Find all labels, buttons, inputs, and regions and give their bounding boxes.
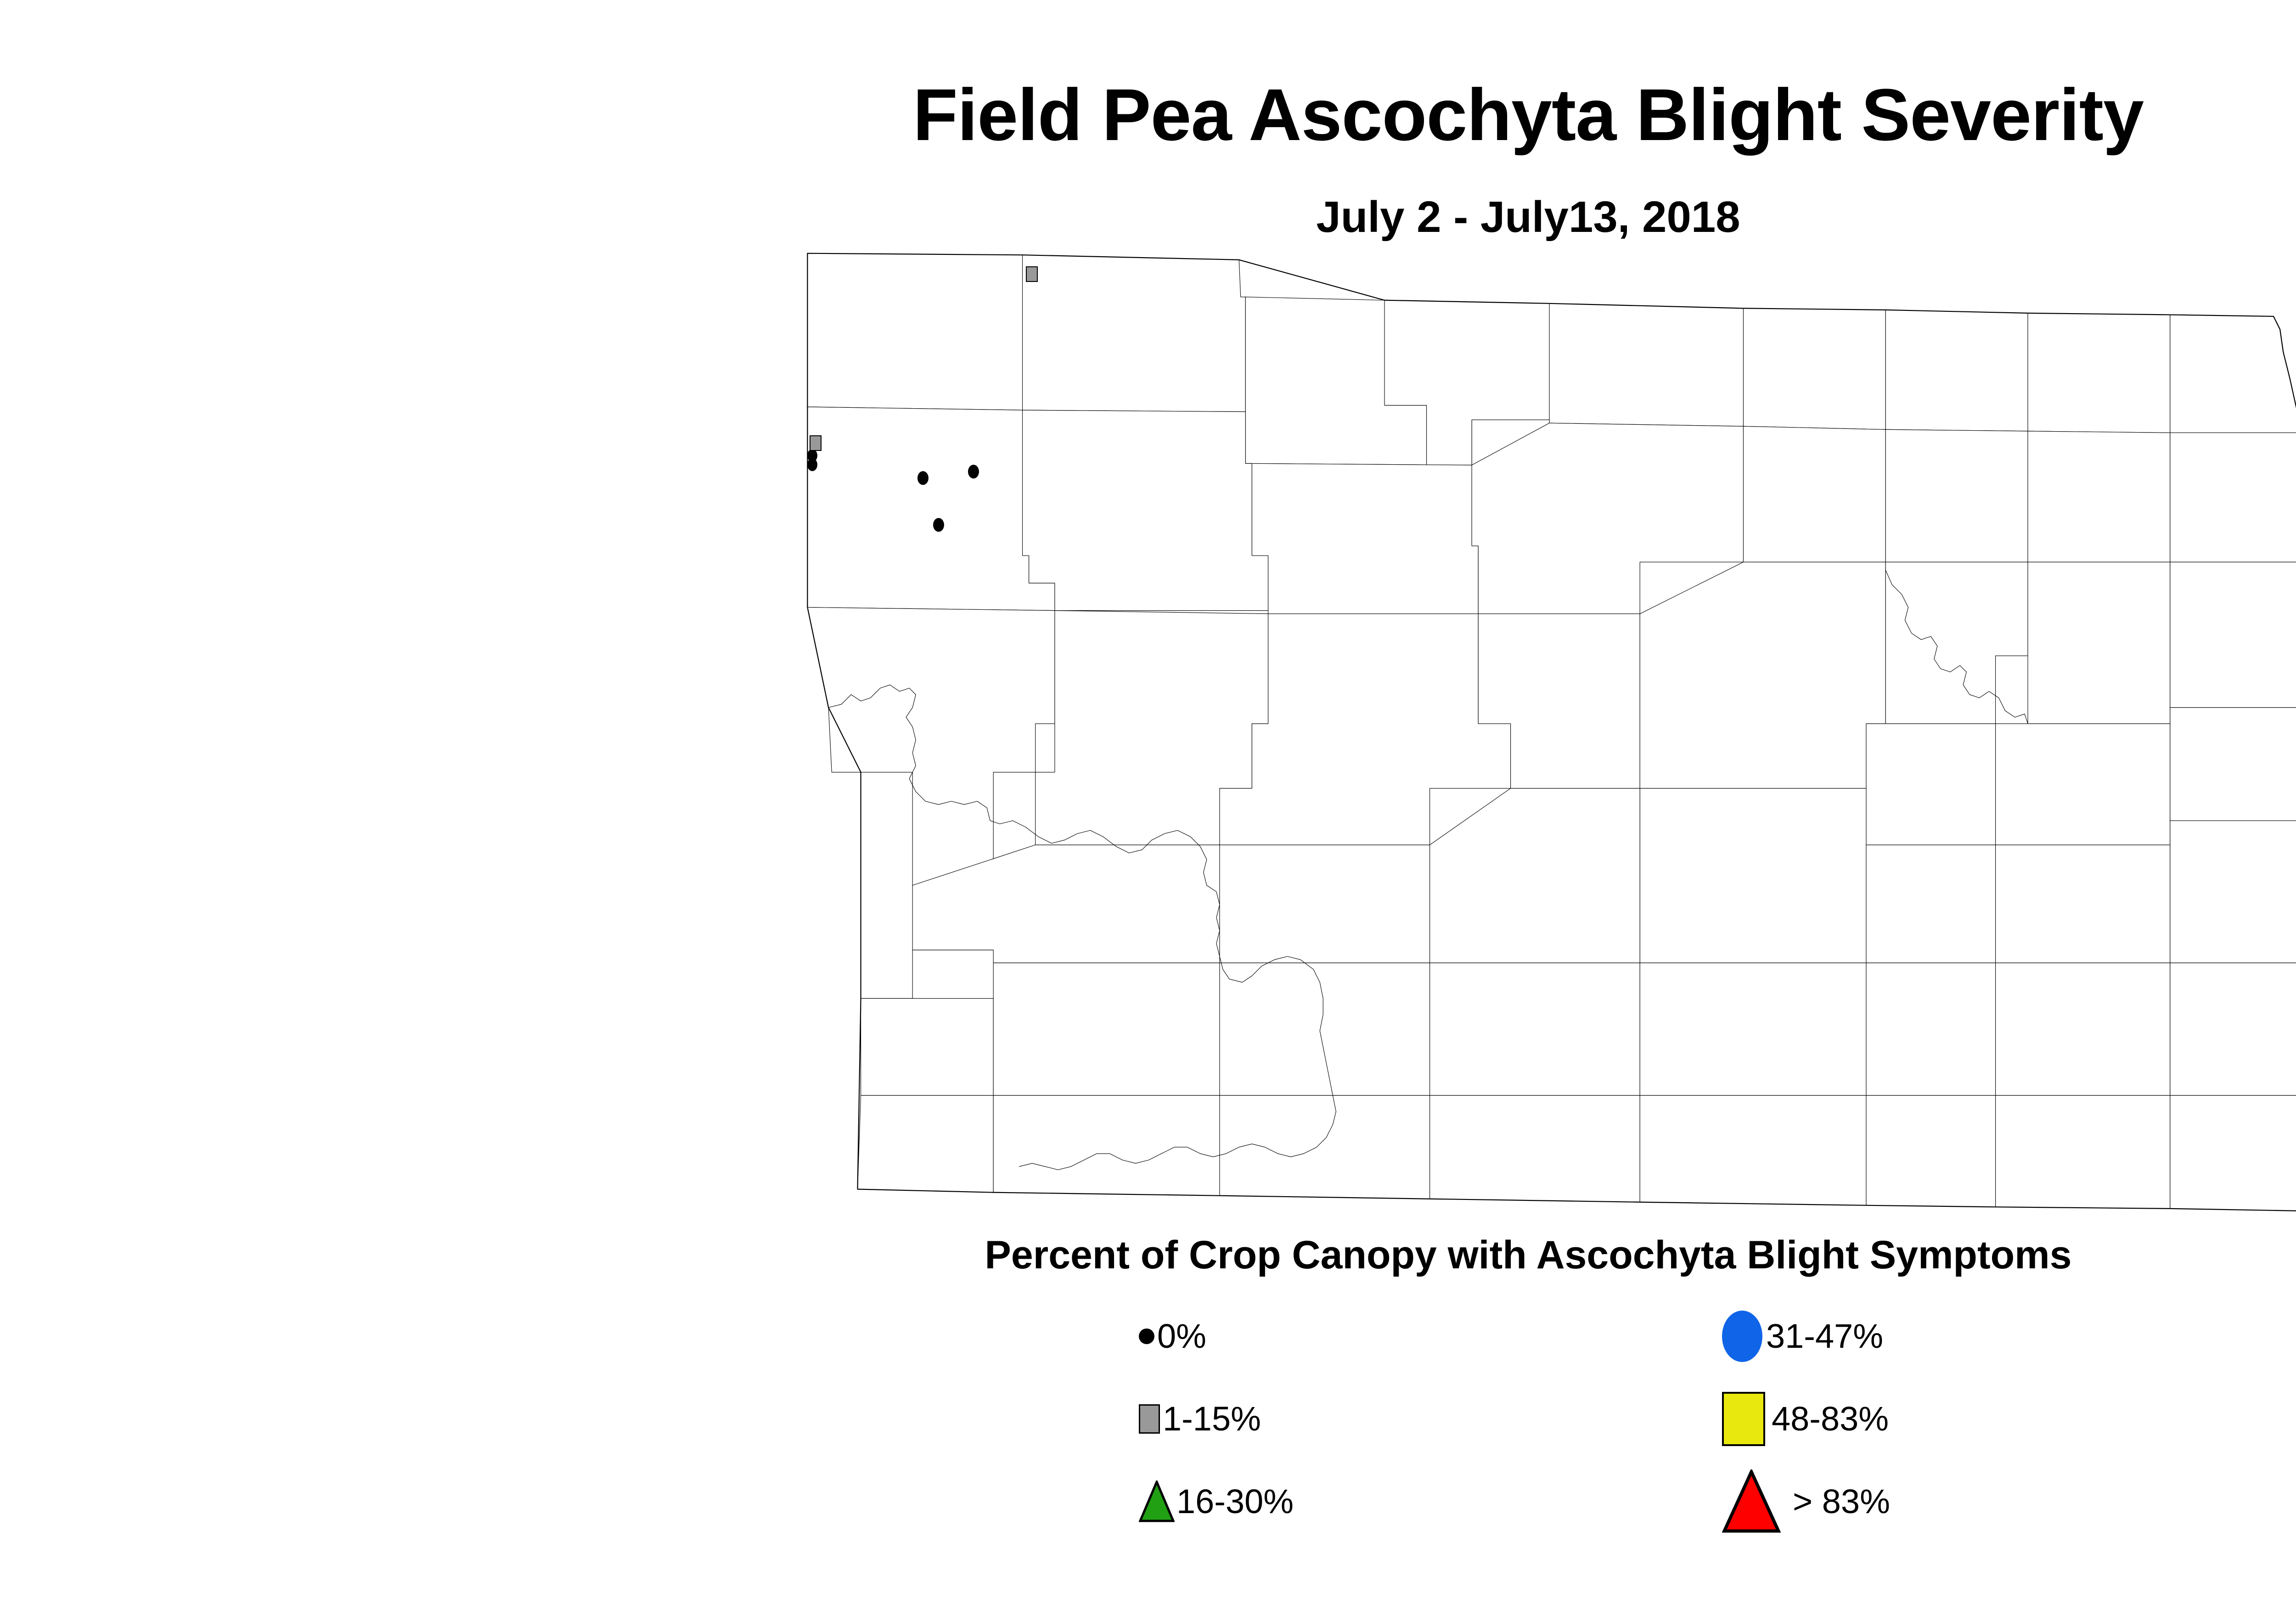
map-figure: Field Pea Ascochyta Blight Severity July… <box>0 0 2296 1610</box>
legend-item-0pct: 0% <box>1139 1311 1206 1362</box>
north-dakota-county-svg <box>735 239 2296 1222</box>
legend-label: 31-47% <box>1766 1319 1883 1353</box>
county-boundaries <box>807 253 2296 1212</box>
legend-item-16-30pct: 16-30% <box>1139 1476 1294 1527</box>
data-point-0pct <box>933 518 944 532</box>
date-range-subtitle: July 2 - July13, 2018 <box>0 195 2296 239</box>
legend-item-48-83pct: 48-83% <box>1722 1394 1889 1444</box>
legend-column-left: 0% 1-15% 16-30% <box>1139 1311 1598 1559</box>
data-point-0pct <box>917 471 929 485</box>
legend: 0% 1-15% 16-30% <box>1139 1311 2140 1559</box>
green-triangle-icon <box>1139 1481 1175 1523</box>
data-point-1-15pct <box>810 435 822 451</box>
black-dot-icon <box>1139 1329 1157 1344</box>
data-point-0pct <box>968 465 979 478</box>
data-point-0pct <box>807 458 817 471</box>
gray-square-icon <box>1139 1404 1163 1434</box>
legend-label: 0% <box>1157 1319 1206 1353</box>
legend-label: 16-30% <box>1176 1485 1294 1519</box>
legend-label: 1-15% <box>1163 1402 1261 1436</box>
yellow-square-icon <box>1722 1392 1772 1446</box>
data-point-1-15pct <box>1026 266 1038 282</box>
red-triangle-icon <box>1722 1469 1781 1534</box>
legend-item-1-15pct: 1-15% <box>1139 1394 1261 1444</box>
legend-label: 48-83% <box>1772 1402 1889 1436</box>
legend-caption: Percent of Crop Canopy with Ascochyta Bl… <box>0 1235 2296 1275</box>
legend-label: > 83% <box>1793 1485 1890 1519</box>
blue-circle-icon <box>1722 1311 1766 1362</box>
north-dakota-map <box>735 239 2296 1222</box>
legend-item-over-83pct: > 83% <box>1722 1476 1890 1527</box>
page-title: Field Pea Ascochyta Blight Severity <box>0 78 2296 152</box>
legend-column-right: 31-47% 48-83% > 83% <box>1722 1311 2181 1559</box>
legend-item-31-47pct: 31-47% <box>1722 1311 1883 1362</box>
